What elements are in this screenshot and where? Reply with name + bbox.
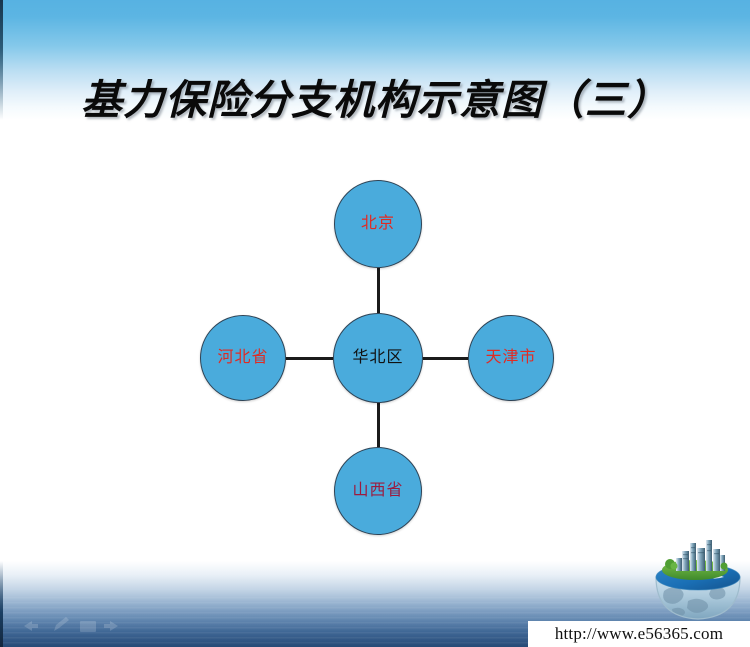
ghost-toolbar-icons bbox=[18, 613, 133, 639]
node-beijing-label: 北京 bbox=[361, 216, 395, 232]
connector-center-to-west bbox=[286, 357, 333, 360]
back-arrow-icon bbox=[24, 621, 38, 631]
connector-center-to-north bbox=[377, 268, 380, 313]
node-beijing[interactable]: 北京 bbox=[334, 180, 422, 268]
node-huabei-region[interactable]: 华北区 bbox=[333, 313, 423, 403]
watermark-banner: http://www.e56365.com bbox=[528, 621, 750, 647]
forward-arrow-icon bbox=[104, 621, 118, 631]
node-tianjin[interactable]: 天津市 bbox=[468, 315, 554, 401]
pencil-icon bbox=[54, 617, 69, 631]
connector-center-to-south bbox=[377, 403, 380, 447]
node-hebei[interactable]: 河北省 bbox=[200, 315, 286, 401]
water-left-edge-accent bbox=[0, 561, 3, 647]
page-title: 基力保险分支机构示意图（三） bbox=[0, 66, 750, 126]
rectangle-icon bbox=[80, 621, 96, 632]
node-tianjin-label: 天津市 bbox=[485, 350, 536, 366]
org-chart-diagram: 北京 河北省 华北区 天津市 山西省 bbox=[0, 150, 750, 550]
node-huabei-region-label: 华北区 bbox=[352, 350, 403, 366]
node-hebei-label: 河北省 bbox=[217, 350, 268, 366]
node-shanxi-label: 山西省 bbox=[352, 483, 403, 499]
connector-center-to-east bbox=[423, 357, 468, 360]
slide-canvas: 基力保险分支机构示意图（三） 北京 河北省 华北区 天津市 山西省 bbox=[0, 0, 750, 647]
globe-city-icon bbox=[650, 535, 746, 621]
node-shanxi[interactable]: 山西省 bbox=[334, 447, 422, 535]
watermark-url: http://www.e56365.com bbox=[555, 624, 723, 644]
